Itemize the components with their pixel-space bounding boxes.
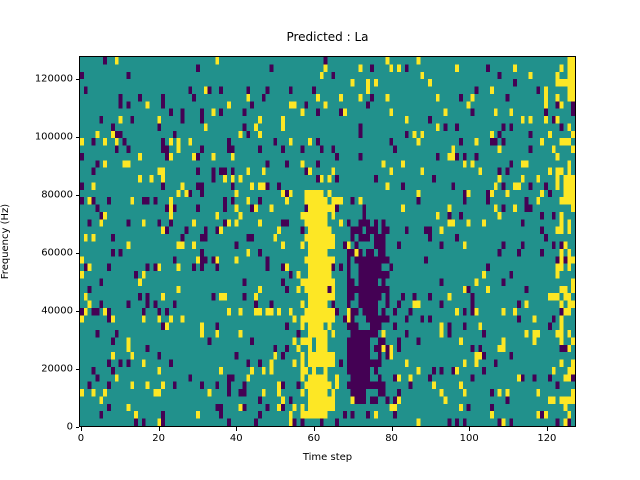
- x-axis-label: Time step: [79, 452, 576, 463]
- y-tick-label: 80000: [41, 190, 73, 201]
- y-tick: [76, 253, 80, 254]
- x-tick-label: 120: [537, 433, 556, 444]
- chart-title: Predicted : La: [79, 30, 576, 44]
- x-tick: [236, 427, 237, 431]
- x-tick: [469, 427, 470, 431]
- heatmap-axes: [79, 56, 576, 427]
- x-tick-label: 60: [308, 433, 321, 444]
- y-tick: [76, 195, 80, 196]
- y-axis-label: Frequency (Hz): [0, 56, 14, 427]
- x-tick: [159, 427, 160, 431]
- spectrogram-heatmap: [80, 57, 575, 426]
- y-tick-label: 120000: [35, 74, 73, 85]
- x-tick: [392, 427, 393, 431]
- y-tick: [76, 427, 80, 428]
- y-tick-label: 60000: [41, 248, 73, 259]
- x-tick: [547, 427, 548, 431]
- matplotlib-figure: Predicted : La 020406080100120 020000400…: [0, 0, 640, 480]
- y-tick: [76, 137, 80, 138]
- x-tick-label: 40: [230, 433, 243, 444]
- y-tick-label: 20000: [41, 364, 73, 375]
- x-tick-label: 100: [460, 433, 479, 444]
- x-tick: [81, 427, 82, 431]
- x-tick-label: 20: [152, 433, 165, 444]
- y-tick-label: 0: [67, 422, 73, 433]
- x-tick: [314, 427, 315, 431]
- y-tick: [76, 79, 80, 80]
- y-tick: [76, 311, 80, 312]
- y-tick-label: 40000: [41, 306, 73, 317]
- y-tick: [76, 369, 80, 370]
- y-tick-label: 100000: [35, 132, 73, 143]
- x-tick-label: 0: [78, 433, 84, 444]
- x-tick-label: 80: [385, 433, 398, 444]
